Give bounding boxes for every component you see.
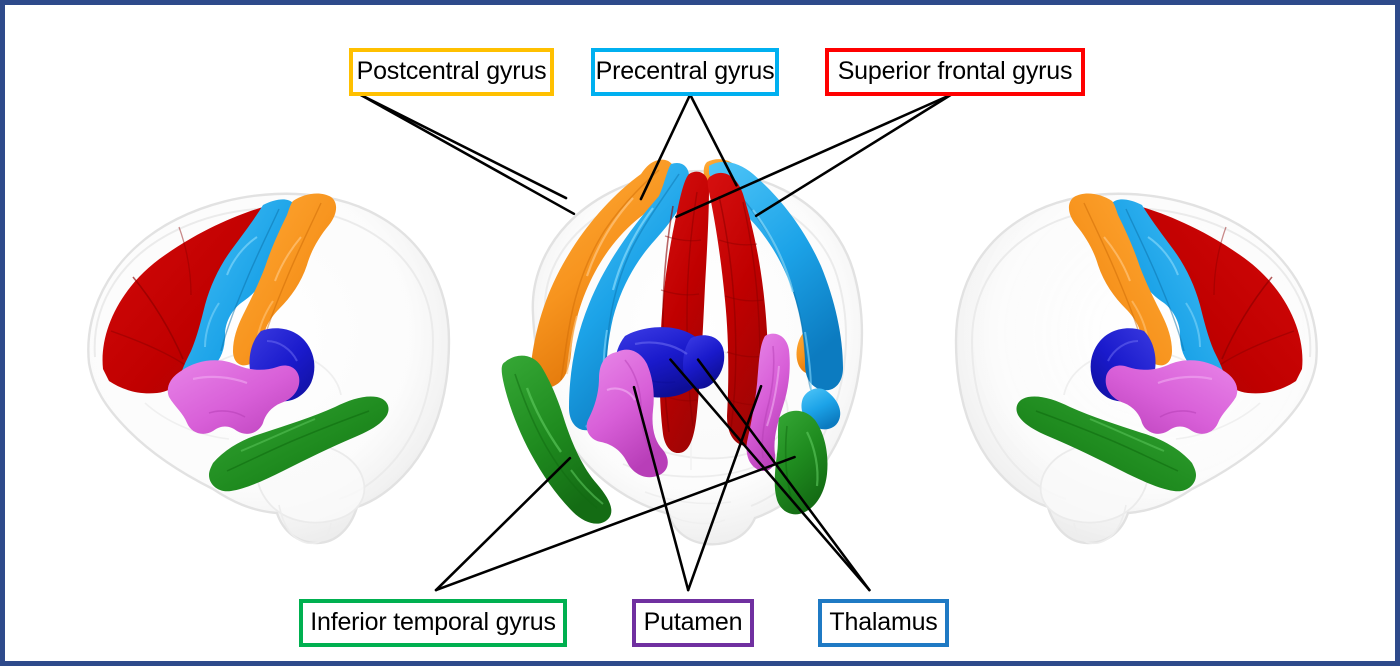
label-inferior-temporal-gyrus-text: Inferior temporal gyrus — [310, 609, 556, 635]
label-postcentral-gyrus-text: Postcentral gyrus — [357, 58, 547, 84]
label-thalamus[interactable]: Thalamus — [818, 599, 949, 647]
label-inferior-temporal-gyrus[interactable]: Inferior temporal gyrus — [299, 599, 567, 647]
label-postcentral-gyrus[interactable]: Postcentral gyrus — [349, 48, 554, 96]
label-precentral-gyrus-text: Precentral gyrus — [596, 58, 775, 84]
figure-frame: Postcentral gyrus Precentral gyrus Super… — [0, 0, 1400, 666]
figure-canvas: Postcentral gyrus Precentral gyrus Super… — [5, 5, 1395, 661]
label-thalamus-text: Thalamus — [829, 609, 937, 635]
label-precentral-gyrus[interactable]: Precentral gyrus — [591, 48, 779, 96]
right-sagittal-view — [920, 145, 1380, 545]
label-superior-frontal-gyrus-text: Superior frontal gyrus — [838, 58, 1073, 84]
label-putamen-text: Putamen — [644, 609, 743, 635]
label-putamen[interactable]: Putamen — [632, 599, 754, 647]
brain-renders-layer — [5, 5, 1395, 661]
center-anterior-view — [475, 140, 915, 550]
label-superior-frontal-gyrus[interactable]: Superior frontal gyrus — [825, 48, 1085, 96]
left-sagittal-view — [25, 145, 485, 545]
